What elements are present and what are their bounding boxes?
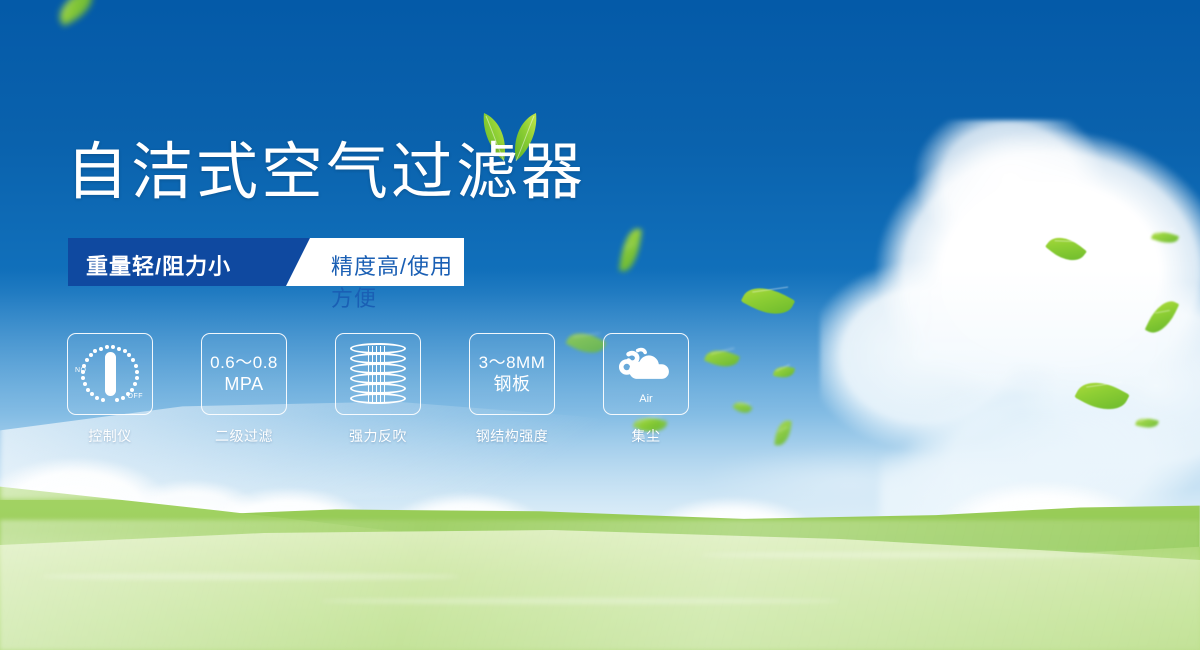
steel-text-icon: 3～8MM 钢板 xyxy=(479,352,546,396)
leaf-icon xyxy=(773,364,795,380)
feature-icon-box: NO OFF xyxy=(67,333,153,415)
steel-thickness: 3～8MM xyxy=(479,353,546,372)
gauge-tick-dot xyxy=(135,376,139,380)
gauge-tick-dot xyxy=(89,353,93,357)
feature-icon-box xyxy=(335,333,421,415)
leaf-icon xyxy=(619,227,642,273)
filter-cartridge-icon xyxy=(350,343,406,405)
feature-caption: 集尘 xyxy=(632,426,661,446)
leaf-icon xyxy=(53,0,99,26)
pressure-unit: MPA xyxy=(210,373,278,396)
gauge-tick-dot xyxy=(99,347,103,351)
gauge-tick-dot xyxy=(115,398,119,402)
gauge-tick-dot xyxy=(127,353,131,357)
leaf-icon xyxy=(704,345,740,373)
gauge-tick-dot xyxy=(90,392,94,396)
gauge-tick-dot xyxy=(95,396,99,400)
air-cloud-icon: Air xyxy=(615,345,677,403)
feature-caption: 二级过滤 xyxy=(215,426,273,446)
gauge-tick-dot xyxy=(131,358,135,362)
gauge-tick-dot xyxy=(134,364,138,368)
feature-caption: 控制仪 xyxy=(88,426,132,446)
air-label: Air xyxy=(615,393,677,405)
grass-streak xyxy=(320,598,840,604)
product-banner: 自洁式空气过滤器 重量轻/阻力小 精度高/使用方便 NO OFF 控制仪 0.6… xyxy=(0,0,1200,650)
gauge-tick-dot xyxy=(83,382,87,386)
leaf-icon xyxy=(741,278,796,323)
grass-streak xyxy=(40,573,460,580)
filter-disc xyxy=(350,393,406,404)
feature-icon-box: 3～8MM 钢板 xyxy=(469,333,555,415)
subtitle-right-text: 精度高/使用方便 xyxy=(331,249,464,313)
feature-caption: 强力反吹 xyxy=(349,426,407,446)
gauge-tick-dot xyxy=(101,398,105,402)
gauge-tick-dot xyxy=(130,388,134,392)
gauge-tick-dot xyxy=(117,347,121,351)
feature-icon-box: Air xyxy=(603,333,689,415)
pressure-text-icon: 0.6～0.8 MPA xyxy=(210,352,278,396)
subtitle-bar: 重量轻/阻力小 精度高/使用方便 xyxy=(68,238,464,286)
gauge-tick-dot xyxy=(105,345,109,349)
gauge-tick-dot xyxy=(111,345,115,349)
feature-icon-box: 0.6～0.8 MPA xyxy=(201,333,287,415)
page-title: 自洁式空气过滤器 xyxy=(66,142,586,204)
gauge-tick-dot xyxy=(123,349,127,353)
steel-material: 钢板 xyxy=(479,373,546,396)
feature-caption: 钢结构强度 xyxy=(476,426,549,446)
gauge-tick-dot xyxy=(86,388,90,392)
feature-item-dust-collection[interactable]: Air 集尘 xyxy=(604,333,688,446)
leaf-icon xyxy=(732,398,752,417)
gauge-icon: NO OFF xyxy=(75,341,145,407)
feature-item-secondary-filter[interactable]: 0.6～0.8 MPA 二级过滤 xyxy=(202,333,286,446)
gauge-tick-dot xyxy=(121,396,125,400)
gauge-tick-dot xyxy=(135,370,139,374)
pressure-value: 0.6～0.8 xyxy=(210,353,278,372)
grass-sheen xyxy=(0,520,1200,650)
feature-list: NO OFF 控制仪 0.6～0.8 MPA 二级过滤 强 xyxy=(68,333,688,446)
subtitle-left-text: 重量轻/阻力小 xyxy=(86,249,231,281)
gauge-tick-dot xyxy=(81,376,85,380)
gauge-tick-dot xyxy=(133,382,137,386)
gauge-needle xyxy=(105,352,116,396)
air-cloud-glyph xyxy=(615,345,677,389)
gauge-tick-dot xyxy=(85,358,89,362)
gauge-tick-dot xyxy=(93,349,97,353)
grass-streak xyxy=(700,552,1120,558)
feature-item-control-gauge[interactable]: NO OFF 控制仪 xyxy=(68,333,152,446)
feature-item-steel-strength[interactable]: 3～8MM 钢板 钢结构强度 xyxy=(470,333,554,446)
feature-item-strong-blowback[interactable]: 强力反吹 xyxy=(336,333,420,446)
